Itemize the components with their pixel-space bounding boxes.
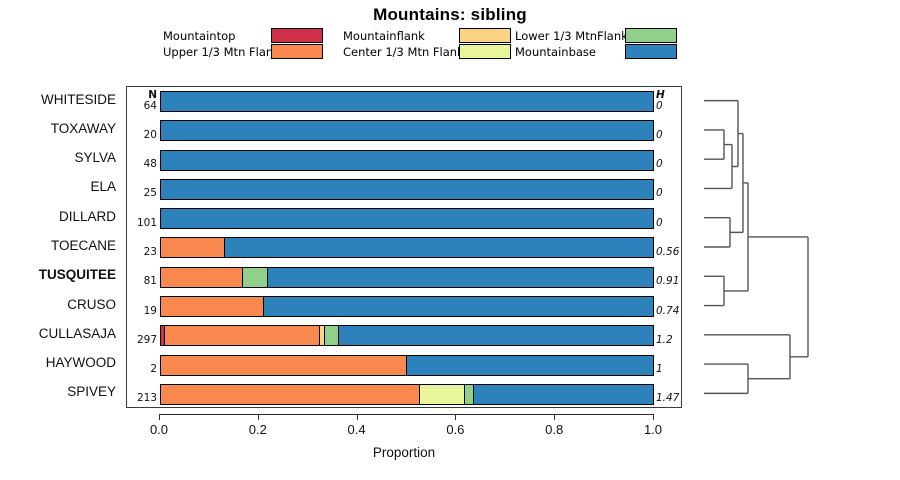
legend: Mountaintop Upper 1/3 Mtn Flank Mountain… [163, 28, 683, 60]
h-value-haywood: 1 [656, 363, 682, 375]
bar-segment-mountainbase[interactable] [161, 92, 654, 111]
legend-label-mountaintop: Mountaintop [163, 29, 235, 43]
x-axis-line [159, 414, 653, 415]
x-axis-tick [554, 414, 555, 420]
h-value-whiteside: 0 [656, 100, 682, 112]
h-value-tusquitee: 0.91 [656, 275, 682, 287]
n-value-cruso: 19 [129, 305, 157, 317]
n-value-whiteside: 64 [129, 100, 157, 112]
n-value-cullasaja: 297 [129, 334, 157, 346]
category-label-toecane: TOECANE [0, 238, 116, 253]
bar-segment-mountainbase[interactable] [474, 385, 654, 404]
category-label-cruso: CRUSO [0, 297, 116, 312]
bar-segment-upper-third-mtn-flank[interactable] [165, 326, 320, 345]
h-value-ela: 0 [656, 187, 682, 199]
category-label-cullasaja: CULLASAJA [0, 326, 116, 341]
column-header-h: H [656, 89, 682, 101]
table-row: 480 [127, 146, 683, 175]
legend-label-mountainbase: Mountainbase [515, 45, 596, 59]
n-value-toxaway: 20 [129, 129, 157, 141]
legend-label-lower-third-mtnflank: Lower 1/3 MtnFlank [515, 29, 628, 43]
bar-segment-lower-third-mtnflank[interactable] [243, 268, 268, 287]
x-axis-tick-label: 1.0 [633, 422, 673, 437]
table-row: 190.74 [127, 292, 683, 321]
stacked-bar-tusquitee[interactable] [160, 267, 654, 288]
legend-swatch-mountainbase [625, 44, 677, 59]
legend-swatch-mountainflank [459, 28, 511, 43]
bar-segment-mountainbase[interactable] [161, 209, 654, 228]
category-label-sylva: SYLVA [0, 150, 116, 165]
h-value-toecane: 0.56 [656, 246, 682, 258]
h-value-spivey: 1.47 [656, 392, 682, 404]
bar-segment-upper-third-mtn-flank[interactable] [161, 297, 264, 316]
stacked-bar-sylva[interactable] [160, 150, 654, 171]
dendrogram-tree [690, 86, 900, 408]
bar-segment-upper-third-mtn-flank[interactable] [161, 238, 225, 257]
table-row: 21 [127, 350, 683, 379]
table-row: 810.91 [127, 263, 683, 292]
x-axis-tick [159, 414, 160, 420]
bar-segment-mountainbase[interactable] [161, 180, 654, 199]
category-label-ela: ELA [0, 179, 116, 194]
h-value-cullasaja: 1.2 [656, 334, 682, 346]
bar-segment-mountainbase[interactable] [225, 238, 654, 257]
n-value-toecane: 23 [129, 246, 157, 258]
stacked-bar-toecane[interactable] [160, 237, 654, 258]
category-label-dillard: DILLARD [0, 209, 116, 224]
table-row: 250 [127, 175, 683, 204]
category-label-haywood: HAYWOOD [0, 355, 116, 370]
table-row: 230.56 [127, 233, 683, 262]
bar-segment-mountainbase[interactable] [264, 297, 654, 316]
stacked-bar-haywood[interactable] [160, 355, 654, 376]
legend-swatch-upper-third-mtn-flank [271, 44, 323, 59]
column-header-n: N [129, 89, 157, 101]
x-axis-tick [653, 414, 654, 420]
bar-segment-upper-third-mtn-flank[interactable] [161, 268, 243, 287]
stacked-bar-dillard[interactable] [160, 208, 654, 229]
legend-swatch-center-third-mtn-flank [459, 44, 511, 59]
bar-segment-mountainbase[interactable] [339, 326, 654, 345]
stacked-bar-toxaway[interactable] [160, 120, 654, 141]
x-axis-tick [357, 414, 358, 420]
h-value-sylva: 0 [656, 158, 682, 170]
bar-segment-mountainbase[interactable] [407, 356, 654, 375]
stacked-bar-whiteside[interactable] [160, 91, 654, 112]
n-value-haywood: 2 [129, 363, 157, 375]
x-axis-tick-label: 0.6 [435, 422, 475, 437]
x-axis-title: Proportion [126, 445, 682, 460]
n-value-spivey: 213 [129, 392, 157, 404]
dendrogram [690, 86, 900, 408]
bar-segment-upper-third-mtn-flank[interactable] [161, 356, 407, 375]
n-value-dillard: 101 [129, 217, 157, 229]
stacked-bar-plot: 6402004802501010230.56810.91190.742971.2… [126, 86, 682, 408]
x-axis-tick-label: 0.0 [139, 422, 179, 437]
bar-segment-lower-third-mtnflank[interactable] [325, 326, 340, 345]
x-axis-tick [455, 414, 456, 420]
bar-segment-center-third-mtn-flank[interactable] [420, 385, 465, 404]
legend-swatch-lower-third-mtnflank [625, 28, 677, 43]
n-value-ela: 25 [129, 187, 157, 199]
x-axis-tick [258, 414, 259, 420]
stacked-bar-cullasaja[interactable] [160, 325, 654, 346]
n-value-sylva: 48 [129, 158, 157, 170]
bar-segment-mountainbase[interactable] [161, 151, 654, 170]
stacked-bar-cruso[interactable] [160, 296, 654, 317]
legend-label-upper-third-mtn-flank: Upper 1/3 Mtn Flank [163, 45, 280, 59]
bar-segment-mountainbase[interactable] [268, 268, 654, 287]
x-axis-tick-label: 0.2 [238, 422, 278, 437]
legend-label-mountainflank: Mountainflank [343, 29, 425, 43]
category-label-toxaway: TOXAWAY [0, 121, 116, 136]
table-row: 200 [127, 116, 683, 145]
table-row: 640 [127, 87, 683, 116]
n-value-tusquitee: 81 [129, 275, 157, 287]
table-row: 2131.47 [127, 380, 683, 409]
category-axis-labels: WHITESIDETOXAWAYSYLVAELADILLARDTOECANETU… [0, 86, 120, 408]
bar-segment-upper-third-mtn-flank[interactable] [161, 385, 420, 404]
page-title: Mountains: sibling [0, 5, 900, 25]
legend-swatch-mountaintop [271, 28, 323, 43]
stacked-bar-ela[interactable] [160, 179, 654, 200]
h-value-toxaway: 0 [656, 129, 682, 141]
table-row: 1010 [127, 204, 683, 233]
category-label-tusquitee: TUSQUITEE [0, 267, 116, 282]
bar-segment-mountainbase[interactable] [161, 121, 654, 140]
legend-label-center-third-mtn-flank: Center 1/3 Mtn Flank [343, 45, 464, 59]
x-axis-tick-label: 0.8 [534, 422, 574, 437]
category-label-spivey: SPIVEY [0, 384, 116, 399]
bar-segment-lower-third-mtnflank[interactable] [465, 385, 474, 404]
table-row: 2971.2 [127, 321, 683, 350]
h-value-dillard: 0 [656, 217, 682, 229]
category-label-whiteside: WHITESIDE [0, 92, 116, 107]
x-axis-tick-label: 0.4 [337, 422, 377, 437]
stacked-bar-spivey[interactable] [160, 384, 654, 405]
h-value-cruso: 0.74 [656, 305, 682, 317]
